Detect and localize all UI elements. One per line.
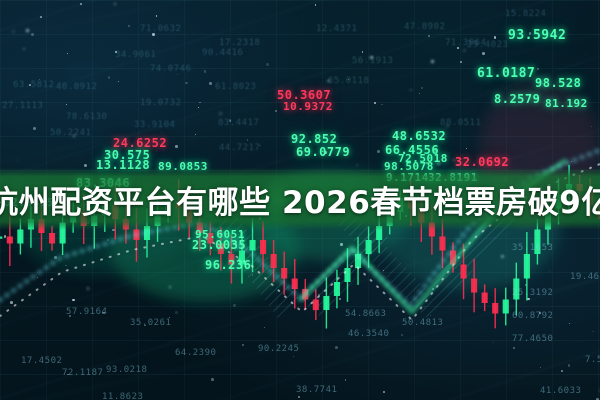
candle-body <box>534 230 540 255</box>
thumbnail-canvas: 93.594261.018798.5288.257981.19250.36071… <box>0 0 600 400</box>
candle-body <box>260 240 266 254</box>
candle-body <box>460 265 466 279</box>
candle-body <box>228 254 234 265</box>
candle-body <box>7 237 13 244</box>
candle-body <box>281 268 287 279</box>
candle-body <box>313 300 319 311</box>
candle-body <box>17 230 23 244</box>
candle-body <box>207 233 213 244</box>
candle-body <box>513 279 519 300</box>
page-title: 杭州配资平台有哪些 2026春节档票房破9亿 <box>0 176 600 222</box>
candle-body <box>334 282 340 296</box>
candle-body <box>218 244 224 255</box>
candle-body <box>524 254 530 279</box>
candle-body <box>292 279 298 290</box>
candle-body <box>49 233 55 244</box>
candle-body <box>439 237 445 251</box>
candle-body <box>471 279 477 293</box>
candle-body <box>492 303 498 314</box>
candle-body <box>249 240 255 251</box>
candle-body <box>0 237 2 239</box>
candle-body <box>482 293 488 304</box>
candle-body <box>323 296 329 310</box>
candle-body <box>271 254 277 268</box>
candle-body <box>366 240 372 254</box>
candle-body <box>344 268 350 282</box>
candle-body <box>503 300 509 314</box>
